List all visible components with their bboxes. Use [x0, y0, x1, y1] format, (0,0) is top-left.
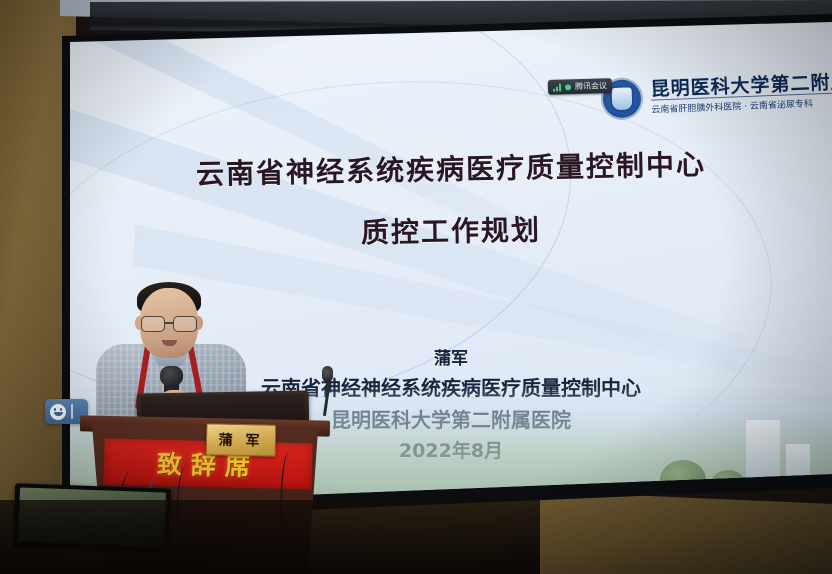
foreground-shadow [0, 500, 540, 574]
tencent-meeting-badge[interactable]: 腾讯会议 [548, 78, 612, 95]
eyeglasses-icon [140, 316, 198, 331]
building-shape [746, 420, 780, 478]
speaker-nameplate-text: 蒲 军 [218, 430, 263, 451]
signal-bars-icon [553, 83, 561, 91]
green-status-dot-icon [565, 84, 571, 90]
hospital-logo: 昆明医科大学第二附属医院 云南省肝胆胰外科医院 · 云南省泌尿专科 [600, 67, 832, 76]
microphone-head [160, 366, 183, 386]
podium-microphone-icon [322, 366, 333, 382]
vertical-divider-icon [71, 404, 73, 419]
smiley-face-icon [50, 404, 66, 420]
presentation-photo-scene: 昆明医科大学第二附属医院 云南省肝胆胰外科医院 · 云南省泌尿专科 腾讯会议 云… [0, 0, 832, 574]
speaker-nameplate: 蒲 军 [206, 423, 277, 456]
meeting-app-label: 腾讯会议 [575, 80, 607, 92]
